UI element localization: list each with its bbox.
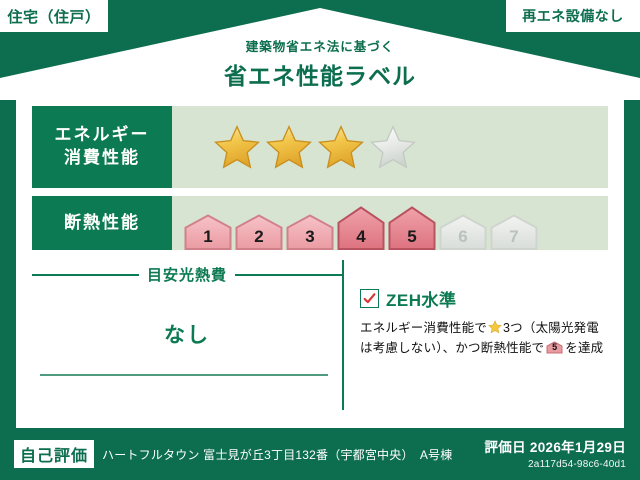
insulation-level-value-1: 1 — [203, 228, 212, 245]
star-filled-icon — [214, 124, 260, 170]
inline-level-chip: 5 — [546, 341, 563, 354]
zeh-description: エネルギー消費性能で3つ（太陽光発電は考慮しない）、かつ断熱性能で5を達成 — [360, 318, 608, 359]
energy-performance-label: 建築物省エネ法に基づく 省エネ性能ラベル 住宅（住戸） 再エネ設備なし エネルギ… — [0, 0, 640, 480]
main-panel: エネルギー 消費性能 断熱性能 1234567 目安光熱費 なし — [16, 90, 624, 428]
star-empty-icon — [370, 124, 416, 170]
badge-renewable-energy: 再エネ設備なし — [506, 0, 640, 32]
star-rating — [172, 124, 416, 170]
energy-label-line1: エネルギー — [55, 124, 150, 147]
insulation-performance-row: 断熱性能 1234567 — [32, 196, 608, 250]
insulation-level-3: 3 — [286, 214, 334, 250]
insulation-level-value-5: 5 — [407, 228, 416, 245]
property-address: ハートフルタウン 富士見が丘3丁目132番（宇都宮中央） A号棟 — [102, 446, 452, 463]
badge-building-type: 住宅（住戸） — [0, 0, 108, 32]
footer: 自己評価 ハートフルタウン 富士見が丘3丁目132番（宇都宮中央） A号棟 評価… — [0, 428, 640, 480]
insulation-level-5: 5 — [388, 206, 436, 250]
insulation-level-6: 6 — [439, 214, 487, 250]
insulation-label-cell: 断熱性能 — [32, 196, 172, 250]
utility-cost-heading-text: 目安光熱費 — [147, 264, 227, 285]
evaluation-date: 評価日 2026年1月29日 — [484, 436, 626, 456]
utility-cost-block: 目安光熱費 なし — [32, 260, 342, 410]
inline-star-icon — [488, 320, 502, 334]
insulation-level-value-7: 7 — [509, 228, 518, 245]
zeh-desc-part3: を達成 — [565, 341, 603, 355]
page-title: 省エネ性能ラベル — [0, 57, 640, 91]
insulation-level-1: 1 — [184, 214, 232, 250]
insulation-rating-cell: 1234567 — [172, 196, 608, 250]
insulation-level-2: 2 — [235, 214, 283, 250]
lower-section: 目安光熱費 なし ZEH水準 エネルギー消費性能で3つ（太陽光発電は考慮しな — [32, 260, 608, 410]
zeh-heading: ZEH水準 — [360, 286, 608, 311]
insulation-level-value-2: 2 — [254, 228, 263, 245]
utility-cost-value: なし — [32, 319, 342, 349]
star-filled-icon — [318, 124, 364, 170]
zeh-desc-star-count: 3つ（太陽光発電 — [503, 321, 599, 335]
insulation-level-value-4: 4 — [356, 228, 365, 245]
header-subtitle: 建築物省エネ法に基づく — [0, 36, 640, 55]
insulation-level-value-3: 3 — [305, 228, 314, 245]
header-text-block: 建築物省エネ法に基づく 省エネ性能ラベル — [0, 36, 640, 91]
zeh-block: ZEH水準 エネルギー消費性能で3つ（太陽光発電は考慮しない）、かつ断熱性能で5… — [342, 260, 608, 410]
footer-left: 自己評価 ハートフルタウン 富士見が丘3丁目132番（宇都宮中央） A号棟 — [14, 440, 452, 468]
insulation-level-4: 4 — [337, 206, 385, 250]
self-evaluation-badge: 自己評価 — [14, 440, 94, 468]
evaluation-id: 2a117d54-98c6-40d1 — [484, 459, 626, 470]
zeh-desc-part2: は考慮しない）、かつ断熱性能で — [360, 341, 544, 355]
energy-rating-stars-cell — [172, 106, 608, 188]
footer-right: 評価日 2026年1月29日 2a117d54-98c6-40d1 — [484, 436, 626, 470]
star-filled-icon — [266, 124, 312, 170]
energy-performance-row: エネルギー 消費性能 — [32, 106, 608, 188]
checkbox-checked-icon — [360, 289, 379, 308]
rule-left — [32, 274, 139, 276]
insulation-level-value-6: 6 — [458, 228, 467, 245]
insulation-level-scale: 1234567 — [172, 196, 538, 250]
energy-performance-label-cell: エネルギー 消費性能 — [32, 106, 172, 188]
energy-label-line2: 消費性能 — [64, 147, 140, 170]
zeh-desc-part1: エネルギー消費性能で — [360, 321, 487, 335]
utility-cost-heading: 目安光熱費 — [32, 264, 342, 285]
insulation-level-7: 7 — [490, 214, 538, 250]
utility-cost-divider — [40, 374, 328, 376]
inline-level-chip-value: 5 — [546, 341, 563, 354]
rule-right — [235, 274, 342, 276]
zeh-title: ZEH水準 — [386, 286, 457, 311]
